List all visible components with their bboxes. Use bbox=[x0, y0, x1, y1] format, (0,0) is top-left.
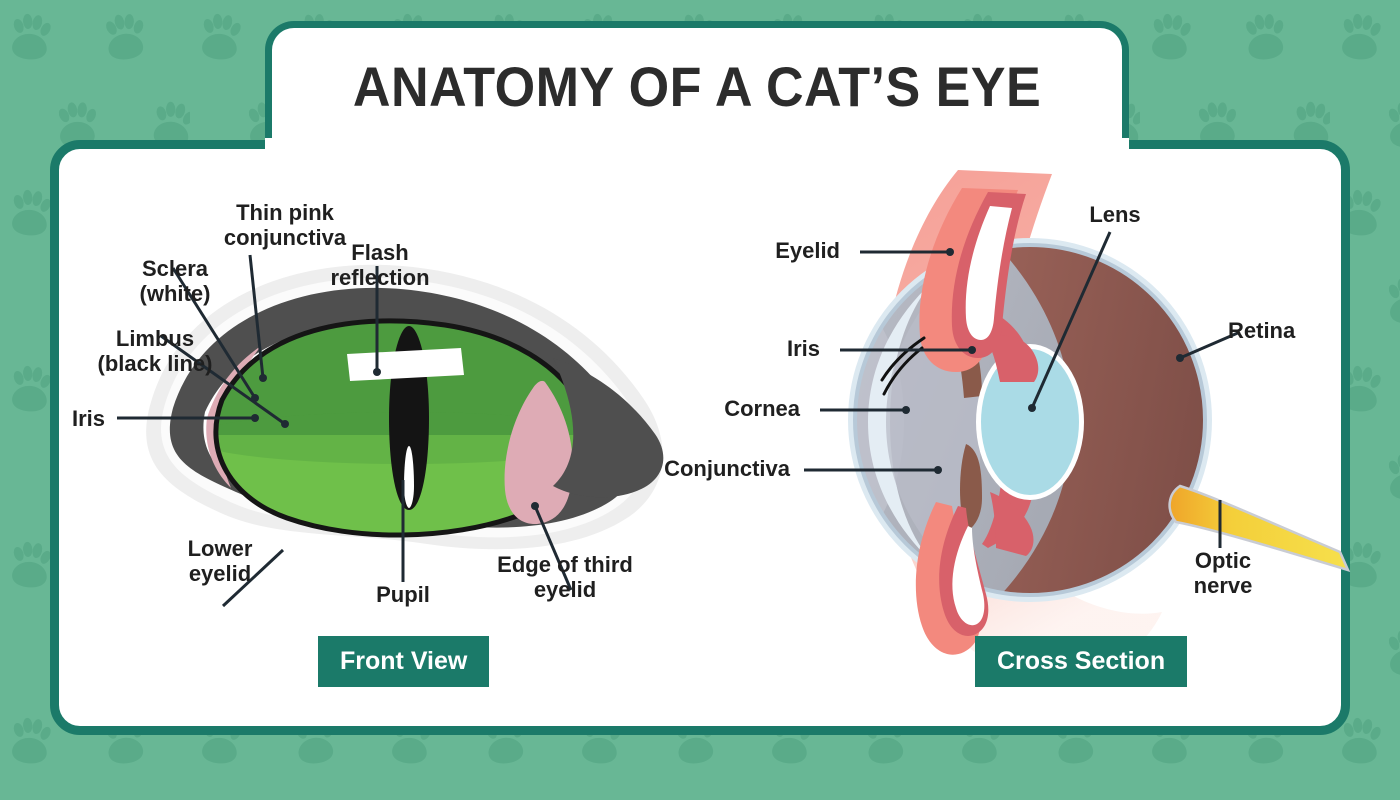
label-iris: Iris bbox=[15, 406, 105, 431]
front-view-panel: Thin pink conjunctiva Sclera (white) Lim… bbox=[55, 150, 695, 710]
cross-section-illustration bbox=[700, 150, 1390, 710]
label-iris: Iris bbox=[720, 336, 820, 361]
label-eyelid: Eyelid bbox=[720, 238, 840, 263]
label-conjunctiva: Conjunctiva bbox=[630, 456, 790, 481]
title-card: ANATOMY OF A CAT’S EYE bbox=[272, 28, 1122, 145]
page-title: ANATOMY OF A CAT’S EYE bbox=[353, 54, 1041, 119]
label-lower-eyelid: Lower eyelid bbox=[150, 536, 290, 587]
label-retina: Retina bbox=[1228, 318, 1348, 343]
badge-front-view: Front View bbox=[318, 636, 489, 687]
front-view-illustration bbox=[55, 150, 695, 710]
cross-section-panel: Eyelid Iris Cornea Conjunctiva Lens Reti… bbox=[700, 150, 1390, 710]
label-sclera-white: Sclera (white) bbox=[105, 256, 245, 307]
label-cornea: Cornea bbox=[690, 396, 800, 421]
badge-cross-section: Cross Section bbox=[975, 636, 1187, 687]
label-limbus-black-line: Limbus (black line) bbox=[55, 326, 255, 377]
label-optic-nerve: Optic nerve bbox=[1168, 548, 1278, 599]
label-flash-reflection: Flash reflection bbox=[305, 240, 455, 291]
label-edge-of-third-eyelid: Edge of third eyelid bbox=[475, 552, 655, 603]
label-pupil: Pupil bbox=[343, 582, 463, 607]
label-lens: Lens bbox=[1070, 202, 1160, 227]
